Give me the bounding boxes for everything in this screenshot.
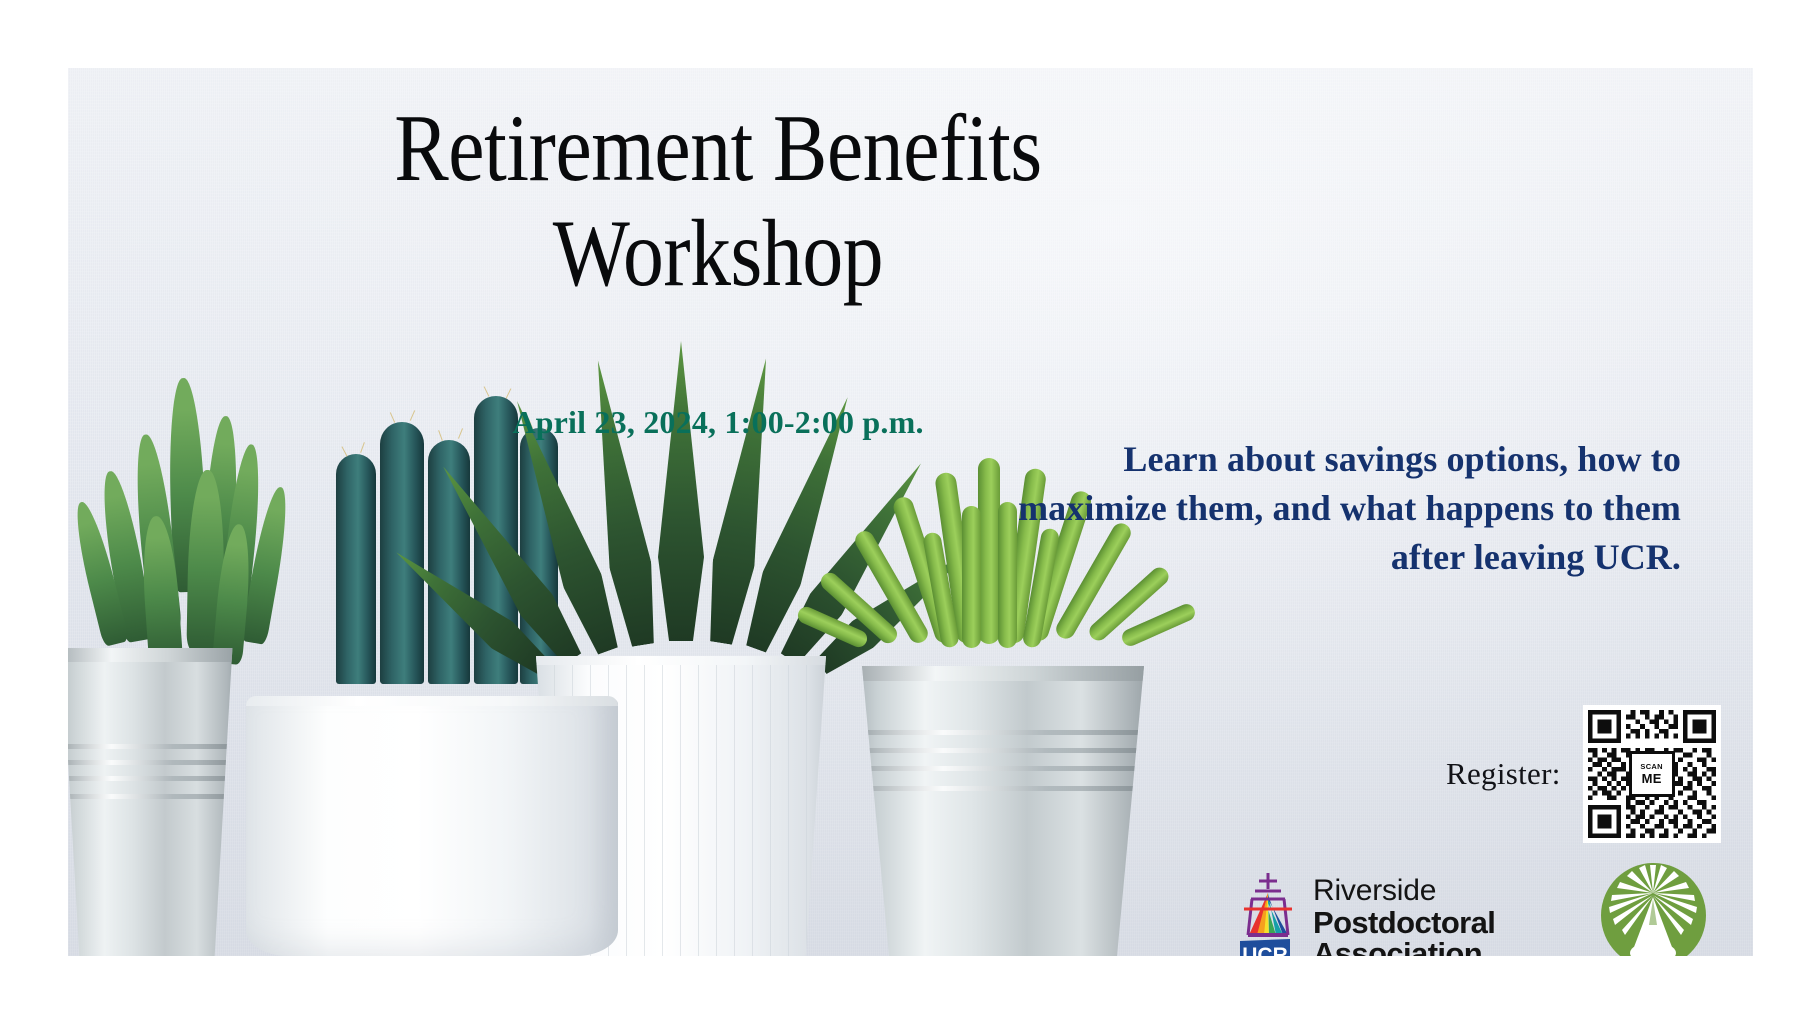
qr-scan-me-badge: SCAN ME xyxy=(1629,751,1675,797)
galvanized-metal-bucket-left xyxy=(68,648,236,956)
flyer-page: Retirement Benefits Workshop April 23, 2… xyxy=(0,0,1820,1024)
ucr-postdoctoral-association-wordmark: Riverside Postdoctoral Association xyxy=(1313,876,1495,956)
qr-scan-line2: ME xyxy=(1642,772,1662,785)
event-description: Learn about savings options, how to maxi… xyxy=(1001,435,1681,582)
svg-text:UCR: UCR xyxy=(1242,944,1288,956)
ucrpa-line-3: Association xyxy=(1313,938,1495,956)
register-row: Register: xyxy=(1446,705,1721,843)
ucr-postdoctoral-association-logo: UCR Riverside Postdoctoral Association xyxy=(1238,869,1495,956)
galvanized-metal-bucket-right xyxy=(853,666,1153,956)
register-label: Register: xyxy=(1446,756,1561,792)
qr-code[interactable]: SCAN ME xyxy=(1583,705,1721,843)
white-ceramic-pot xyxy=(246,696,618,956)
fidelity-pyramid-sunburst-icon xyxy=(1601,863,1706,956)
page-title: Retirement Benefits Workshop xyxy=(288,96,1148,307)
poster-artboard: Retirement Benefits Workshop April 23, 2… xyxy=(68,68,1753,956)
fidelity-investments-logo: Fidelity INVESTMENTS xyxy=(1588,863,1720,956)
qr-scan-line1: SCAN xyxy=(1640,763,1662,771)
logo-row: UCR Riverside Postdoctoral Association xyxy=(1238,863,1753,956)
ucrpa-line-1: Riverside xyxy=(1313,876,1495,907)
ucrpa-line-2: Postdoctoral xyxy=(1313,907,1495,939)
ucr-bell-tower-icon: UCR xyxy=(1238,869,1300,956)
dark-green-agave xyxy=(518,341,848,671)
